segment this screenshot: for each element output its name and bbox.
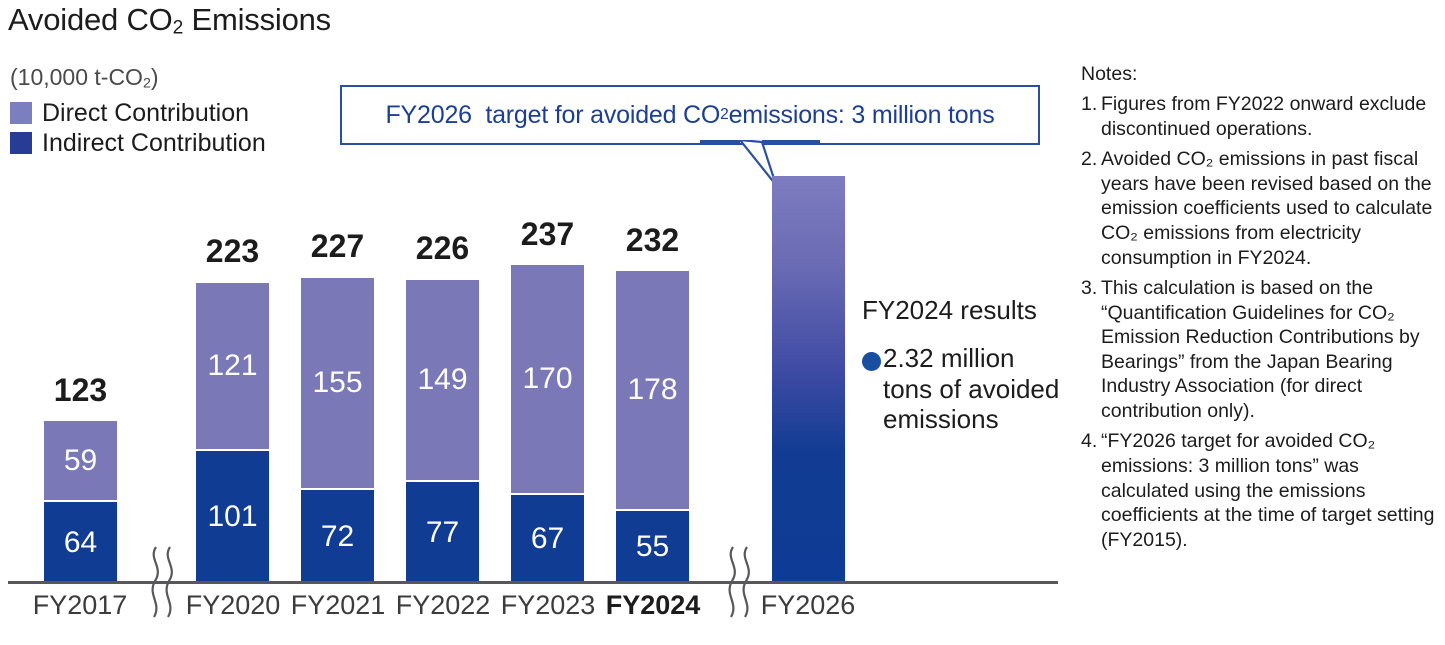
chart-plot-area: 123 59 64 223 121 101 227 155 72 226 149 xyxy=(0,0,1060,645)
results-heading: FY2024 results xyxy=(862,297,1062,323)
bar-total-label: 226 xyxy=(406,232,479,264)
bar-fy2022: 149 77 xyxy=(406,280,479,581)
bar-segment-indirect: 55 xyxy=(616,509,689,583)
note-item: 4. “FY2026 target for avoided CO₂ emissi… xyxy=(1081,429,1443,552)
results-bullet-text: 2.32 million tons of avoided emissions xyxy=(883,343,1062,435)
results-annotation: FY2024 results 2.32 million tons of avoi… xyxy=(862,297,1062,435)
bar-segment-indirect: 67 xyxy=(511,493,584,583)
bar-total-label: 123 xyxy=(44,374,117,406)
note-text: Figures from FY2022 onward exclude disco… xyxy=(1101,92,1443,141)
bar-segment-direct: 121 xyxy=(196,283,269,449)
note-number: 3. xyxy=(1081,276,1101,423)
bar-segment-direct: 155 xyxy=(301,278,374,488)
note-text: “FY2026 target for avoided CO₂ emissions… xyxy=(1101,429,1443,552)
note-number: 2. xyxy=(1081,147,1101,270)
bar-segment-direct: 170 xyxy=(511,265,584,493)
note-text: Avoided CO₂ emissions in past fiscal yea… xyxy=(1101,147,1443,270)
bar-segment-indirect: 72 xyxy=(301,488,374,583)
bar-total-label: 237 xyxy=(511,218,584,250)
notes-heading: Notes: xyxy=(1081,62,1443,86)
segment-value-label: 155 xyxy=(312,368,362,398)
bullet-point-icon xyxy=(862,352,881,371)
results-bullet-item: 2.32 million tons of avoided emissions xyxy=(862,343,1062,435)
segment-value-label: 64 xyxy=(64,528,97,558)
x-tick-fy2022: FY2022 xyxy=(383,592,503,619)
segment-value-label: 121 xyxy=(207,351,257,381)
segment-value-label: 55 xyxy=(636,532,669,562)
bar-fy2021: 155 72 xyxy=(301,278,374,581)
bar-fy2023: 170 67 xyxy=(511,265,584,581)
bar-segment-indirect: 64 xyxy=(44,500,117,583)
bar-segment-indirect: 77 xyxy=(406,480,479,583)
x-tick-fy2021: FY2021 xyxy=(278,592,398,619)
x-tick-fy2017: FY2017 xyxy=(20,592,140,619)
bar-total-label: 227 xyxy=(301,230,374,262)
bar-fy2026-target xyxy=(772,176,845,581)
notes-panel: Notes: 1. Figures from FY2022 onward exc… xyxy=(1081,62,1443,552)
segment-value-label: 72 xyxy=(321,522,354,552)
x-tick-fy2024: FY2024 xyxy=(593,592,713,619)
note-number: 4. xyxy=(1081,429,1101,552)
segment-value-label: 178 xyxy=(627,375,677,405)
note-text: This calculation is based on the “Quanti… xyxy=(1101,276,1443,423)
segment-value-label: 77 xyxy=(426,518,459,548)
bar-total-label: 232 xyxy=(616,224,689,256)
bar-segment-direct: 178 xyxy=(616,271,689,509)
bar-fy2024: 178 55 xyxy=(616,271,689,581)
segment-value-label: 101 xyxy=(207,502,257,532)
segment-value-label: 59 xyxy=(64,446,97,476)
bar-segment-direct: 59 xyxy=(44,421,117,500)
note-item: 3. This calculation is based on the “Qua… xyxy=(1081,276,1443,423)
bar-total-label: 223 xyxy=(196,235,269,267)
segment-value-label: 67 xyxy=(531,524,564,554)
note-item: 2. Avoided CO₂ emissions in past fiscal … xyxy=(1081,147,1443,270)
segment-value-label: 149 xyxy=(417,365,467,395)
x-tick-fy2023: FY2023 xyxy=(488,592,608,619)
x-tick-fy2026: FY2026 xyxy=(748,592,868,619)
bar-segment-direct: 149 xyxy=(406,280,479,480)
note-number: 1. xyxy=(1081,92,1101,141)
segment-value-label: 170 xyxy=(522,364,572,394)
bar-fy2020: 121 101 xyxy=(196,283,269,581)
bar-fy2017: 59 64 xyxy=(44,421,117,581)
note-item: 1. Figures from FY2022 onward exclude di… xyxy=(1081,92,1443,141)
bar-segment-indirect: 101 xyxy=(196,449,269,583)
x-tick-fy2020: FY2020 xyxy=(173,592,293,619)
